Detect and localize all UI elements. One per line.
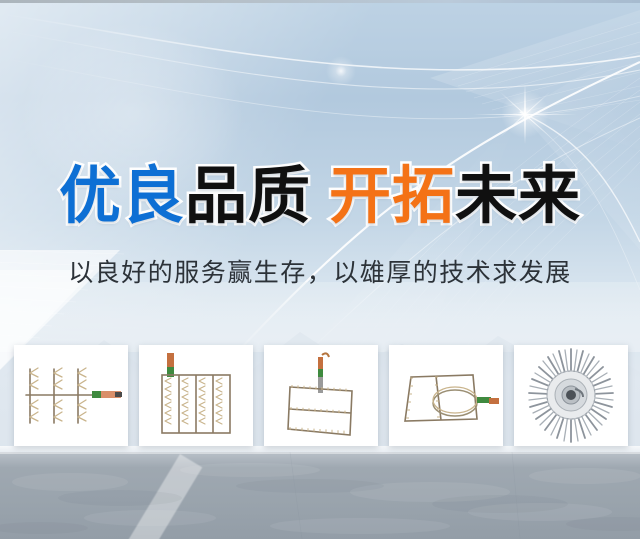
ground-surface bbox=[0, 452, 640, 539]
panel-frame-hanger-icon bbox=[264, 345, 378, 446]
radial-spike-wheel-icon bbox=[514, 345, 628, 446]
lens-flare-secondary-icon bbox=[341, 71, 342, 72]
page-title: 优良品质开拓未来 bbox=[0, 163, 640, 229]
ring-plate-hanger-icon bbox=[389, 345, 503, 446]
promo-banner: 优良品质开拓未来 以良好的服务赢生存，以雄厚的技术求发展 bbox=[0, 0, 640, 539]
ground-texture bbox=[0, 452, 640, 539]
headline-segment-1: 优良 bbox=[59, 163, 185, 229]
product-card-panel-frame-hanger[interactable] bbox=[264, 345, 378, 446]
multi-row-spike-rack-icon bbox=[139, 345, 253, 446]
product-card-comb-rack-hanger[interactable] bbox=[14, 345, 128, 446]
lens-flare-star-icon bbox=[525, 114, 526, 115]
product-card-ring-plate-hanger[interactable] bbox=[389, 345, 503, 446]
headline-segment-2: 品质 bbox=[185, 163, 311, 229]
headline-segment-3: 开拓 bbox=[329, 163, 455, 229]
product-thumbnail-strip bbox=[14, 345, 628, 446]
product-card-radial-spike-wheel[interactable] bbox=[514, 345, 628, 446]
page-subtitle: 以良好的服务赢生存，以雄厚的技术求发展 bbox=[0, 256, 640, 290]
comb-rack-hanger-icon bbox=[14, 345, 128, 446]
headline-segment-4: 未来 bbox=[455, 163, 581, 229]
product-card-multi-row-spike-rack[interactable] bbox=[139, 345, 253, 446]
